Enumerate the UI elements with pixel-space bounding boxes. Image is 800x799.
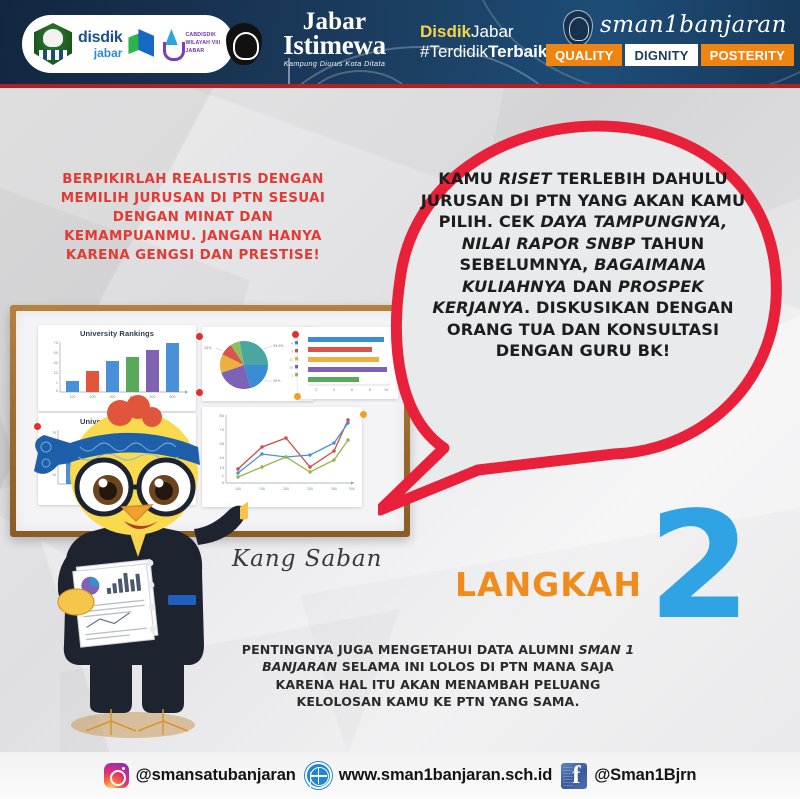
jabar-rest: Jabar [471, 22, 514, 41]
svg-text:1: 1 [291, 373, 293, 377]
svg-text:20%: 20% [273, 379, 281, 383]
magnet-dot-red-3 [292, 331, 299, 338]
svg-text:70: 70 [54, 341, 58, 345]
svg-text:2: 2 [315, 388, 317, 392]
jabar-emblem-icon [34, 23, 72, 65]
bottom-advice-text: PENTINGNYA JUGA MENGETAHUI DATA ALUMNI S… [238, 641, 638, 710]
left-advice-text: BERPIKIRLAH REALISTIS DENGAN MEMILIH JUR… [48, 170, 338, 265]
jabar-istimewa-line2: Istimewa [252, 33, 417, 57]
svg-text:10: 10 [289, 365, 293, 369]
instagram-icon [104, 763, 129, 788]
speech-bubble: KAMU RISET TERLEBIH DAHULU JURUSAN DI PT… [378, 118, 798, 528]
website-link[interactable]: www.sman1banjaran.sch.id [305, 762, 552, 789]
svg-text:4: 4 [291, 341, 293, 345]
mascot-shadow [71, 712, 195, 738]
footer-bar: @smansatubanjaran www.sman1banjaran.sch.… [0, 752, 800, 799]
mascot-right-arm [194, 506, 247, 545]
terdidik-rest: #Terdidik [420, 42, 488, 61]
cabdisdik-logo: CABDISDIK WILAYAH VIII JABAR [160, 29, 220, 59]
step-label: LANGKAH [455, 565, 642, 604]
terbaik-bold: Terbaik [488, 42, 547, 61]
svg-text:40: 40 [54, 361, 58, 365]
plain-phrase: PENTINGNYA JUGA MENGETAHUI DATA ALUMNI [242, 642, 579, 657]
school-script-wordmark: sman1banjaran [600, 12, 787, 38]
svg-text:0: 0 [56, 389, 58, 393]
header-banner: disdik jabar CABDISDIK WILAYAH VIII JABA… [0, 0, 800, 88]
mascot-kang-saban [18, 395, 248, 740]
svg-text:20%: 20% [204, 346, 212, 350]
mascot-pointing-hand [240, 491, 248, 520]
magnet-dot-red-1 [196, 333, 203, 340]
mascot-left-hand [58, 589, 94, 615]
disdik-jabar-line: DisdikJabar [420, 22, 547, 42]
motto-posterity: POSTERITY [701, 44, 794, 66]
svg-text:300: 300 [331, 487, 337, 491]
cabdisdik-line1: CABDISDIK [185, 32, 220, 40]
motto-quality: QUALITY [546, 44, 622, 66]
instagram-handle: @smansatubanjaran [136, 766, 296, 785]
svg-text:11: 11 [289, 357, 293, 361]
svg-text:4: 4 [333, 388, 335, 392]
logo-cluster: disdik jabar CABDISDIK WILAYAH VIII JABA… [22, 15, 234, 73]
cabdisdik-line3: JABAR [185, 48, 220, 56]
poster-canvas: disdik jabar CABDISDIK WILAYAH VIII JABA… [0, 0, 800, 799]
svg-text:150: 150 [259, 487, 265, 491]
cabdisdik-emblem-icon [160, 29, 182, 59]
facebook-handle: @Sman1Bjrn [594, 766, 696, 785]
plain-phrase: DAN [567, 277, 618, 296]
svg-text:200: 200 [283, 487, 289, 491]
motto-bar: QUALITY DIGNITY POSTERITY [546, 44, 794, 66]
school-crest-icon-2 [563, 10, 593, 46]
signature-kang-saban: Kang Saban [232, 546, 382, 572]
jabar-istimewa-logo: Jabar Istimewa Kampung Diurus Kota Ditat… [252, 10, 417, 68]
svg-text:8: 8 [369, 388, 371, 392]
facebook-link[interactable]: @Sman1Bjrn [561, 763, 696, 789]
svg-text:6: 6 [351, 388, 353, 392]
website-url: www.sman1banjaran.sch.id [339, 766, 552, 785]
svg-text:50: 50 [54, 351, 58, 355]
facebook-icon [561, 763, 587, 789]
chart-title-a: University Rankings [38, 325, 196, 338]
speech-bubble-text: KAMU RISET TERLEBIH DAHULU JURUSAN DI PT… [418, 168, 748, 362]
magnet-dot-orange-1 [294, 393, 301, 400]
terdidik-terbaik-line: #TerdidikTerbaik [420, 42, 547, 62]
svg-text:5: 5 [291, 349, 293, 353]
mascot-right-leg [142, 663, 184, 713]
svg-text:22: 22 [54, 371, 58, 375]
svg-text:33.9%: 33.9% [273, 344, 285, 348]
emphasized-phrase: RISET [499, 169, 552, 188]
jabar-istimewa-tagline: Kampung Diurus Kota Ditata [252, 59, 417, 68]
disdik-bold: Disdik [420, 22, 471, 41]
cabdisdik-line2: WILAYAH VIII [185, 40, 220, 48]
disdik-label: disdik [78, 30, 122, 46]
instagram-link[interactable]: @smansatubanjaran [104, 763, 296, 788]
globe-icon [305, 762, 332, 789]
motto-dignity: DIGNITY [625, 44, 697, 66]
magnet-dot-orange-2 [360, 411, 367, 418]
plain-phrase: KAMU [438, 169, 498, 188]
mascot-left-leg [90, 663, 132, 713]
disdik-jabar-wordmark: disdik jabar [78, 30, 122, 59]
svg-text:1: 1 [56, 381, 58, 385]
cabdisdik-wordmark: CABDISDIK WILAYAH VIII JABAR [185, 32, 220, 55]
jabar-label: jabar [78, 47, 122, 59]
disdik-hashtag-block: DisdikJabar #TerdidikTerbaik [420, 22, 547, 62]
step-number: 2 [648, 492, 751, 640]
svg-text:350: 350 [349, 487, 355, 491]
mascot-name-badge [168, 595, 196, 605]
diamond-logo-icon [128, 29, 154, 59]
mascot-headband-knot [34, 435, 70, 474]
svg-text:250: 250 [307, 487, 313, 491]
